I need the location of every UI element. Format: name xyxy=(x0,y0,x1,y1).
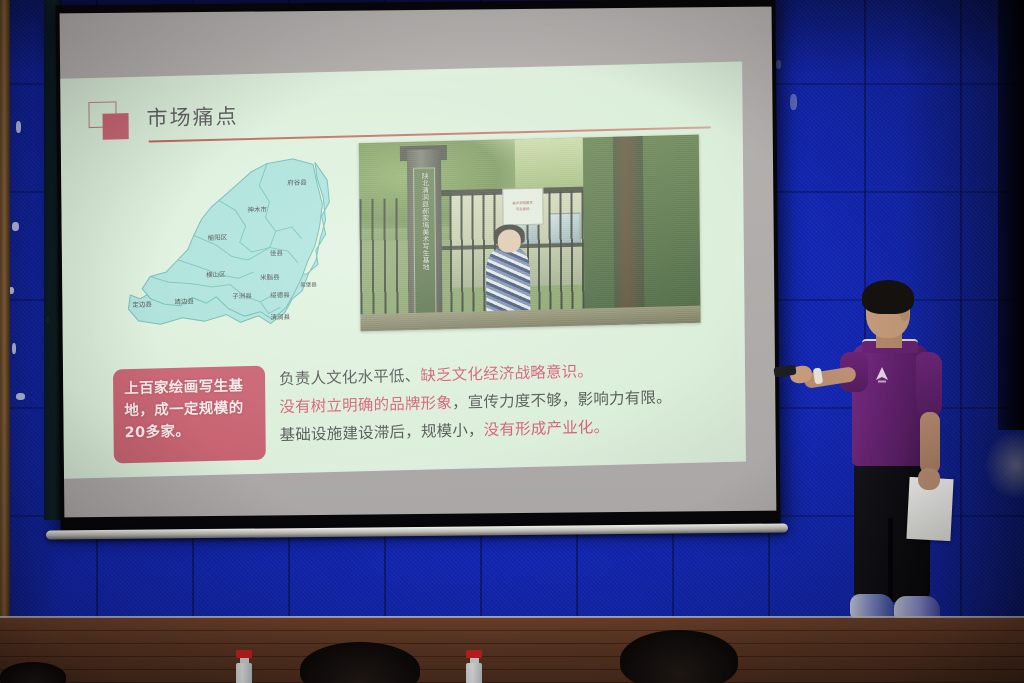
map-label: 定边县 xyxy=(132,299,152,309)
bottle-body xyxy=(236,663,252,683)
presenter-leg-gap xyxy=(888,518,893,602)
audience-head xyxy=(620,630,738,683)
wall-scuff-mark xyxy=(776,60,781,69)
wall-wood-trim xyxy=(0,0,10,625)
yulin-district-map: 府谷县 神木市 榆阳区 佳县 横山区 米脂县 吴堡县 子洲县 绥德县 清涧县 靖… xyxy=(119,153,353,344)
water-bottle xyxy=(466,650,482,683)
map-label: 佳县 xyxy=(270,247,283,257)
wall-scuff-mark xyxy=(12,222,19,231)
map-label: 清涧县 xyxy=(270,311,290,321)
presenter-arm-right xyxy=(920,412,940,474)
right-background-object xyxy=(984,430,1024,500)
presenter-wristband xyxy=(813,367,823,384)
body-segment-highlight: 没有形成产业化。 xyxy=(484,418,610,439)
map-label: 绥德县 xyxy=(270,289,290,299)
map-label: 神木市 xyxy=(247,204,267,214)
body-segment: 基础设施建设滞后，规模小， xyxy=(280,422,484,445)
wall-scuff-mark xyxy=(790,94,797,110)
slide-title: 市场痛点 xyxy=(146,100,238,132)
wall-scuff-mark xyxy=(16,393,25,400)
floor-planks xyxy=(0,618,1024,683)
square-filled-icon xyxy=(103,113,129,140)
stage-floor xyxy=(0,618,1024,683)
body-segment: 负责人文化水平低、 xyxy=(279,367,420,389)
presentation-room-scene: 市场痛点 xyxy=(0,0,1024,683)
presenter-sleeve-right xyxy=(916,352,942,418)
body-segment-highlight: 缺乏文化经济战略意识。 xyxy=(420,362,593,384)
bottle-body xyxy=(466,663,482,683)
slide-body-text: 负责人文化水平低、缺乏文化经济战略意识。 没有树立明确的品牌形象，宣传力度不够，… xyxy=(279,354,710,449)
map-label: 横山区 xyxy=(206,269,226,279)
map-svg xyxy=(119,153,353,344)
map-label: 米脂县 xyxy=(260,271,280,281)
shirt-logo-icon xyxy=(874,366,890,384)
bottle-cap xyxy=(466,650,482,658)
map-label: 府谷县 xyxy=(287,177,307,187)
map-label: 吴堡县 xyxy=(300,280,317,288)
right-wall-shadow xyxy=(998,0,1024,430)
screen-surface: 市场痛点 xyxy=(60,7,777,518)
wall-scuff-mark xyxy=(16,121,21,133)
presenter-hand-right xyxy=(918,468,940,490)
bottle-cap xyxy=(236,650,252,658)
projection-screen: 市场痛点 xyxy=(55,0,780,533)
map-label: 靖边县 xyxy=(174,295,194,305)
map-label: 榆阳区 xyxy=(208,232,228,242)
basecamp-gate-photo: 陕北清涧县郝家墕美术写生基地 美术学院教学 写生基地 xyxy=(359,135,701,332)
photo-grain xyxy=(359,135,701,332)
presenter-hair xyxy=(862,280,914,314)
map-label: 子洲县 xyxy=(232,290,252,300)
wall-scuff-mark xyxy=(12,343,16,354)
water-bottle xyxy=(236,650,252,683)
body-segment: ，宣传力度不够，影响力有限。 xyxy=(452,389,672,413)
body-segment-highlight: 没有树立明确的品牌形象 xyxy=(279,394,452,416)
callout-box: 上百家绘画写生基地，成一定规模的20多家。 xyxy=(113,366,266,464)
projected-slide: 市场痛点 xyxy=(60,62,746,479)
